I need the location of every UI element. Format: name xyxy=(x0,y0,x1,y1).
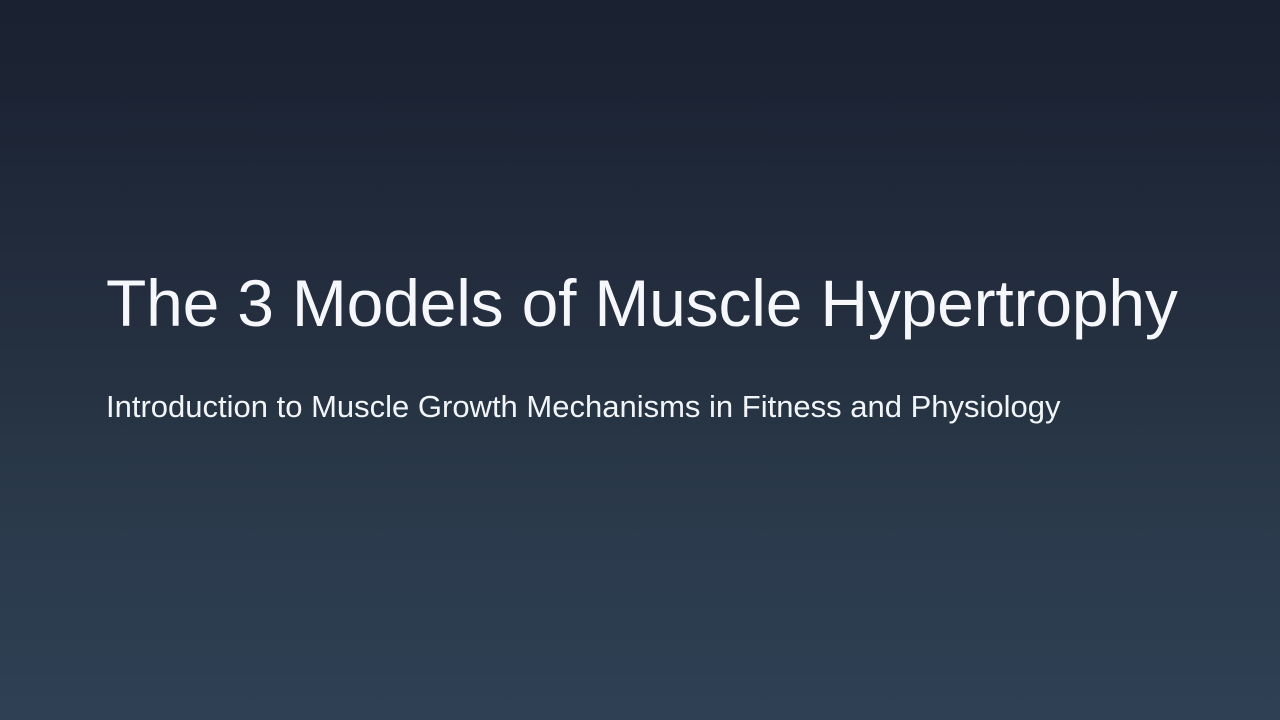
slide-text-block: The 3 Models of Muscle Hypertrophy Intro… xyxy=(106,270,1176,422)
title-slide: The 3 Models of Muscle Hypertrophy Intro… xyxy=(0,0,1280,720)
page-title: The 3 Models of Muscle Hypertrophy xyxy=(106,270,1176,336)
slide-subtitle: Introduction to Muscle Growth Mechanisms… xyxy=(106,336,1176,422)
